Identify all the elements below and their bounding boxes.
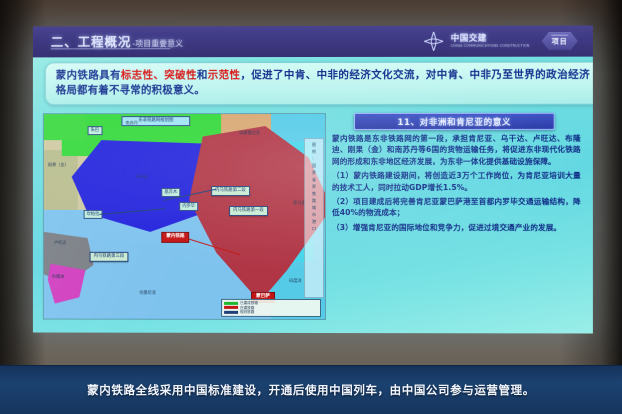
map-region-label: 乌干达 <box>135 174 148 180</box>
map-mombasa-rail-label: 蒙内铁路 <box>161 232 189 243</box>
map-legend-sidebar-char: 铁 <box>306 191 322 196</box>
map-legend-sidebar-char: 界 <box>306 184 322 189</box>
map-legend-table: 已建成铁路在建铁路规划铁路 <box>221 299 321 317</box>
intro-highlight-3: 示范性 <box>208 69 241 81</box>
map-legend-sidebar-char: 界 <box>306 170 322 175</box>
map-region-label: 印度洋 <box>289 278 302 284</box>
project-badge-icon: 项目 <box>537 31 583 51</box>
map-legend-sidebar-char: 市 <box>306 212 322 217</box>
map-region-label: 刚果（金） <box>48 162 69 168</box>
logo-company-cn: 中国交建 <box>451 34 487 44</box>
badge-label: 项目 <box>552 36 568 46</box>
map-legend-sidebar-char: 港 <box>306 219 322 224</box>
compass-star-icon <box>425 32 444 51</box>
slide-header-bar: 二、工程概况-项目重要意义 中国交建 CHINA COMMUNICATIONS … <box>33 25 593 58</box>
map-legend-sidebar-char: 图 <box>306 142 322 147</box>
intro-highlight-1: 标志性、 <box>121 69 164 81</box>
logo-company-en: CHINA COMMUNICATIONS CONSTRUCTION <box>451 44 530 48</box>
map-region-label: 坦桑尼亚 <box>139 290 156 296</box>
text-panel: 11、对非洲和肯尼亚的意义 蒙内铁路是东非铁路网的第一段，承担肯尼亚、乌干达、卢… <box>332 113 581 319</box>
map-city-box: 朱巴 <box>88 126 103 135</box>
text-panel-paragraph: （3）增强肯尼亚的国际地位和竞争力，促进过境交通产业的发展。 <box>332 222 581 234</box>
title-underline <box>51 48 170 49</box>
map-legend-sidebar-char: 城 <box>306 205 322 210</box>
intro-highlight-2: 突破性 <box>164 69 197 81</box>
slide-body: 蒙内铁路具有标志性、突破性和示范性，促进了中肯、中非的经济文化交流，对中肯、中非… <box>33 57 593 334</box>
map-legend-sidebar-char: 路 <box>306 198 322 203</box>
map-legend-sidebar-char: 省 <box>306 177 322 182</box>
map-region-label: 布隆迪 <box>52 274 65 280</box>
text-panel-heading-bar: 11、对非洲和肯尼亚的意义 <box>354 113 555 130</box>
map-legend-label: 规划铁路 <box>240 310 254 315</box>
text-panel-paragraph: 蒙内铁路是东非铁路网的第一段，承担肯尼亚、乌干达、卢旺达、布隆迪、刚果（金）和南… <box>332 133 581 167</box>
text-panel-body: 蒙内铁路是东非铁路网的第一段，承担肯尼亚、乌干达、卢旺达、布隆迪、刚果（金）和南… <box>332 133 581 316</box>
map-city-box: 内罗毕 <box>179 202 198 211</box>
map-region-label: 卢旺达 <box>54 240 67 246</box>
text-panel-paragraph: （2）项目建成后将完善肯尼亚蒙巴萨港至首都内罗毕交通运输结构，降低40%的物流成… <box>332 196 581 219</box>
intro-text-c: ，促进了中肯、中非的经济文化交流，对 <box>240 69 436 81</box>
slide-title-main: 工程概况 <box>78 34 132 49</box>
map-legend-swatch <box>224 311 238 314</box>
caption-text: 蒙内铁路全线采用中国标准建设，开通后使用中国列车，由中国公司参与运营管理。 <box>87 382 535 398</box>
intro-text-b: 和 <box>197 69 208 81</box>
slide-subtitle: -项目重要意义 <box>132 39 183 48</box>
map-callout: 内马铁路第三段 <box>90 252 129 262</box>
logo-area: 中国交建 CHINA COMMUNICATIONS CONSTRUCTION 项… <box>425 30 583 53</box>
intro-callout-box: 蒙内铁路具有标志性、突破性和示范性，促进了中肯、中非的经济文化交流，对中肯、中非… <box>45 62 593 106</box>
projected-slide: 二、工程概况-项目重要意义 中国交建 CHINA COMMUNICATIONS … <box>33 25 593 333</box>
map-region-label: 埃塞俄比亚 <box>239 130 260 136</box>
caption-bar: 蒙内铁路全线采用中国标准建设，开通后使用中国列车，由中国公司参与运营管理。 <box>0 365 622 414</box>
map-legend-row: 规划铁路 <box>224 310 318 315</box>
intro-paragraph: 蒙内铁路具有标志性、突破性和示范性，促进了中肯、中非的经济文化交流，对中肯、中非… <box>56 68 590 99</box>
logo-company-name: 中国交建 CHINA COMMUNICATIONS CONSTRUCTION <box>451 35 530 48</box>
map-legend-sidebar-char: 例 <box>306 149 322 154</box>
map-legend-sidebar-char: ： <box>306 156 322 161</box>
map-legend-sidebar-char: 口 <box>306 226 322 231</box>
map-callout: 内马铁路第一段 <box>229 206 268 216</box>
east-africa-railway-map: 东非铁路网规划图 南苏丹埃塞俄比亚乌干达肯尼亚索马里刚果（金）坦桑尼亚卢旺达布隆… <box>43 113 326 320</box>
map-legend-sidebar: 图例：国界省界铁路城市港口 <box>304 138 324 298</box>
map-region-label: 南苏丹 <box>125 120 138 126</box>
map-legend-swatch <box>224 306 238 309</box>
intro-text-a: 蒙内铁路具有 <box>56 69 121 81</box>
map-region-north-west <box>44 114 86 140</box>
text-panel-paragraph: （1）蒙内铁路建设期间，将创造近3万个工作岗位，为肯尼亚培训大量的技术工人，同时… <box>332 170 581 193</box>
slide-section-number: 二、 <box>51 34 78 49</box>
map-legend-swatch <box>224 302 238 305</box>
text-panel-heading: 11、对非洲和肯尼亚的意义 <box>398 115 512 127</box>
map-legend-sidebar-char: 国 <box>306 163 322 168</box>
map-callout: 内马铁路第二段 <box>211 186 250 196</box>
